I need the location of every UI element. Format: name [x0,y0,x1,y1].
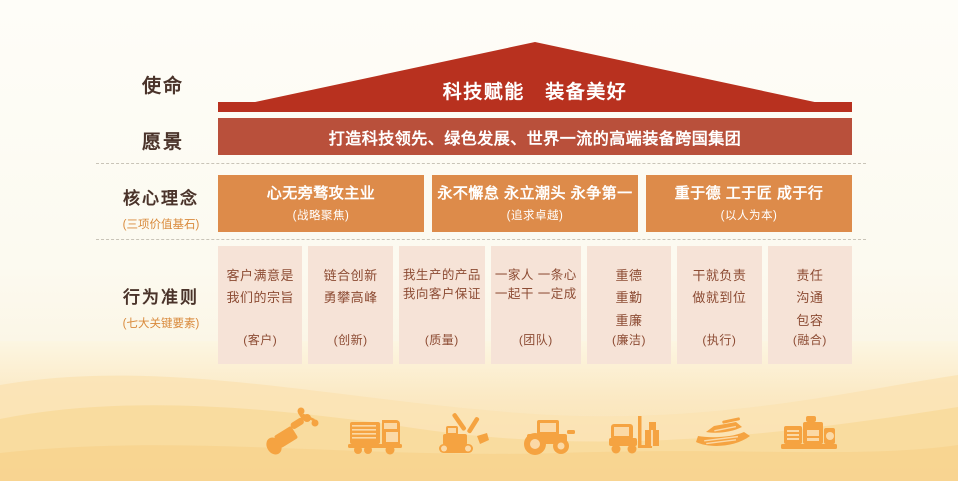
behavior-tag: (客户) [243,331,277,348]
behavior-lines: 客户满意是 我们的宗旨 [226,268,294,307]
behavior-line: 干就负责 [692,268,746,284]
equipment-icon-strip [260,402,840,458]
core-value-card: 永不懈怠 永立潮头 永争第一 (追求卓越) [432,175,638,232]
core-value-note: (战略聚焦) [293,207,350,223]
behavior-lines: 我生产的产品 我向客户保证 [403,268,481,302]
row-label-mission-text: 使命 [142,76,184,97]
behavior-line: 做就到位 [692,290,746,306]
behavior-line: 我向客户保证 [403,287,481,303]
behavior-lines: 责任 沟通 包容 [796,268,823,329]
forklift-icon [605,406,667,458]
core-value-main: 心无旁骛攻主业 [267,185,376,203]
tunnel-boring-machine-icon [260,406,322,458]
behavior-card: 责任 沟通 包容 (融合) [768,246,852,364]
mission-text: 科技赋能 装备美好 [218,42,852,112]
core-value-note: (追求卓越) [507,207,564,223]
behavior-guidelines-row: 客户满意是 我们的宗旨 (客户) 链合创新 勇攀高峰 (创新) 我生产的产品 我… [218,246,852,364]
behavior-line: 一家人 一条心 [495,268,577,284]
tractor-icon [519,406,581,458]
behavior-line: 我们的宗旨 [226,290,294,306]
row-label-behavior-text: 行为准则 [123,288,199,307]
behavior-line: 重勤 [616,290,643,306]
mission-roof: 科技赋能 装备美好 [218,42,852,112]
behavior-card: 一家人 一条心 一起干 一定成 (团队) [491,246,581,364]
behavior-lines: 一家人 一条心 一起干 一定成 [495,268,577,302]
core-value-main: 重于德 工于匠 成于行 [675,185,824,203]
row-label-core-values-sub: (三项价值基石) [96,216,226,232]
vision-band: 打造科技领先、绿色发展、世界一流的高端装备跨国集团 [218,118,852,155]
behavior-card: 干就负责 做就到位 (执行) [677,246,761,364]
generator-set-icon [778,406,840,458]
behavior-line: 重德 [616,268,643,284]
row-label-behavior-sub: (七大关键要素) [96,315,226,331]
behavior-tag: (执行) [702,331,736,348]
behavior-card: 链合创新 勇攀高峰 (创新) [308,246,392,364]
separator-line-upper [96,163,866,164]
behavior-line: 链合创新 [324,268,378,284]
behavior-card: 我生产的产品 我向客户保证 (质量) [399,246,485,364]
behavior-lines: 链合创新 勇攀高峰 [324,268,378,307]
behavior-line: 包容 [796,313,823,329]
excavator-icon [433,406,495,458]
row-label-vision-text: 愿景 [142,132,184,153]
row-label-vision: 愿景 [104,127,222,154]
behavior-line: 一起干 一定成 [495,287,577,303]
behavior-lines: 干就负责 做就到位 [692,268,746,307]
behavior-tag: (廉洁) [612,331,646,348]
behavior-lines: 重德 重勤 重廉 [616,268,643,329]
behavior-card: 客户满意是 我们的宗旨 (客户) [218,246,302,364]
core-value-note: (以人为本) [721,207,778,223]
core-value-main: 永不懈怠 永立潮头 永争第一 [437,185,632,203]
behavior-line: 客户满意是 [226,268,294,284]
separator-line-lower [96,239,866,240]
row-label-core-values-text: 核心理念 [123,189,199,208]
behavior-line: 责任 [796,268,823,284]
vision-text: 打造科技领先、绿色发展、世界一流的高端装备跨国集团 [329,125,742,149]
culture-pyramid-diagram: 使命 愿景 核心理念 (三项价值基石) 行为准则 (七大关键要素) 科技赋能 装… [0,0,958,481]
behavior-line: 重廉 [616,313,643,329]
boat-icon [692,406,754,458]
truck-icon [346,406,408,458]
behavior-tag: (团队) [519,331,553,348]
behavior-line: 勇攀高峰 [324,290,378,306]
core-values-row: 心无旁骛攻主业 (战略聚焦) 永不懈怠 永立潮头 永争第一 (追求卓越) 重于德… [218,175,852,232]
behavior-line: 我生产的产品 [403,268,481,284]
row-label-behavior: 行为准则 (七大关键要素) [96,283,226,331]
behavior-card: 重德 重勤 重廉 (廉洁) [587,246,671,364]
row-label-core-values: 核心理念 (三项价值基石) [96,184,226,232]
behavior-tag: (质量) [425,331,459,348]
core-value-card: 重于德 工于匠 成于行 (以人为本) [646,175,852,232]
row-label-mission: 使命 [104,71,222,98]
behavior-tag: (创新) [334,331,368,348]
behavior-line: 沟通 [796,290,823,306]
core-value-card: 心无旁骛攻主业 (战略聚焦) [218,175,424,232]
behavior-tag: (融合) [793,331,827,348]
